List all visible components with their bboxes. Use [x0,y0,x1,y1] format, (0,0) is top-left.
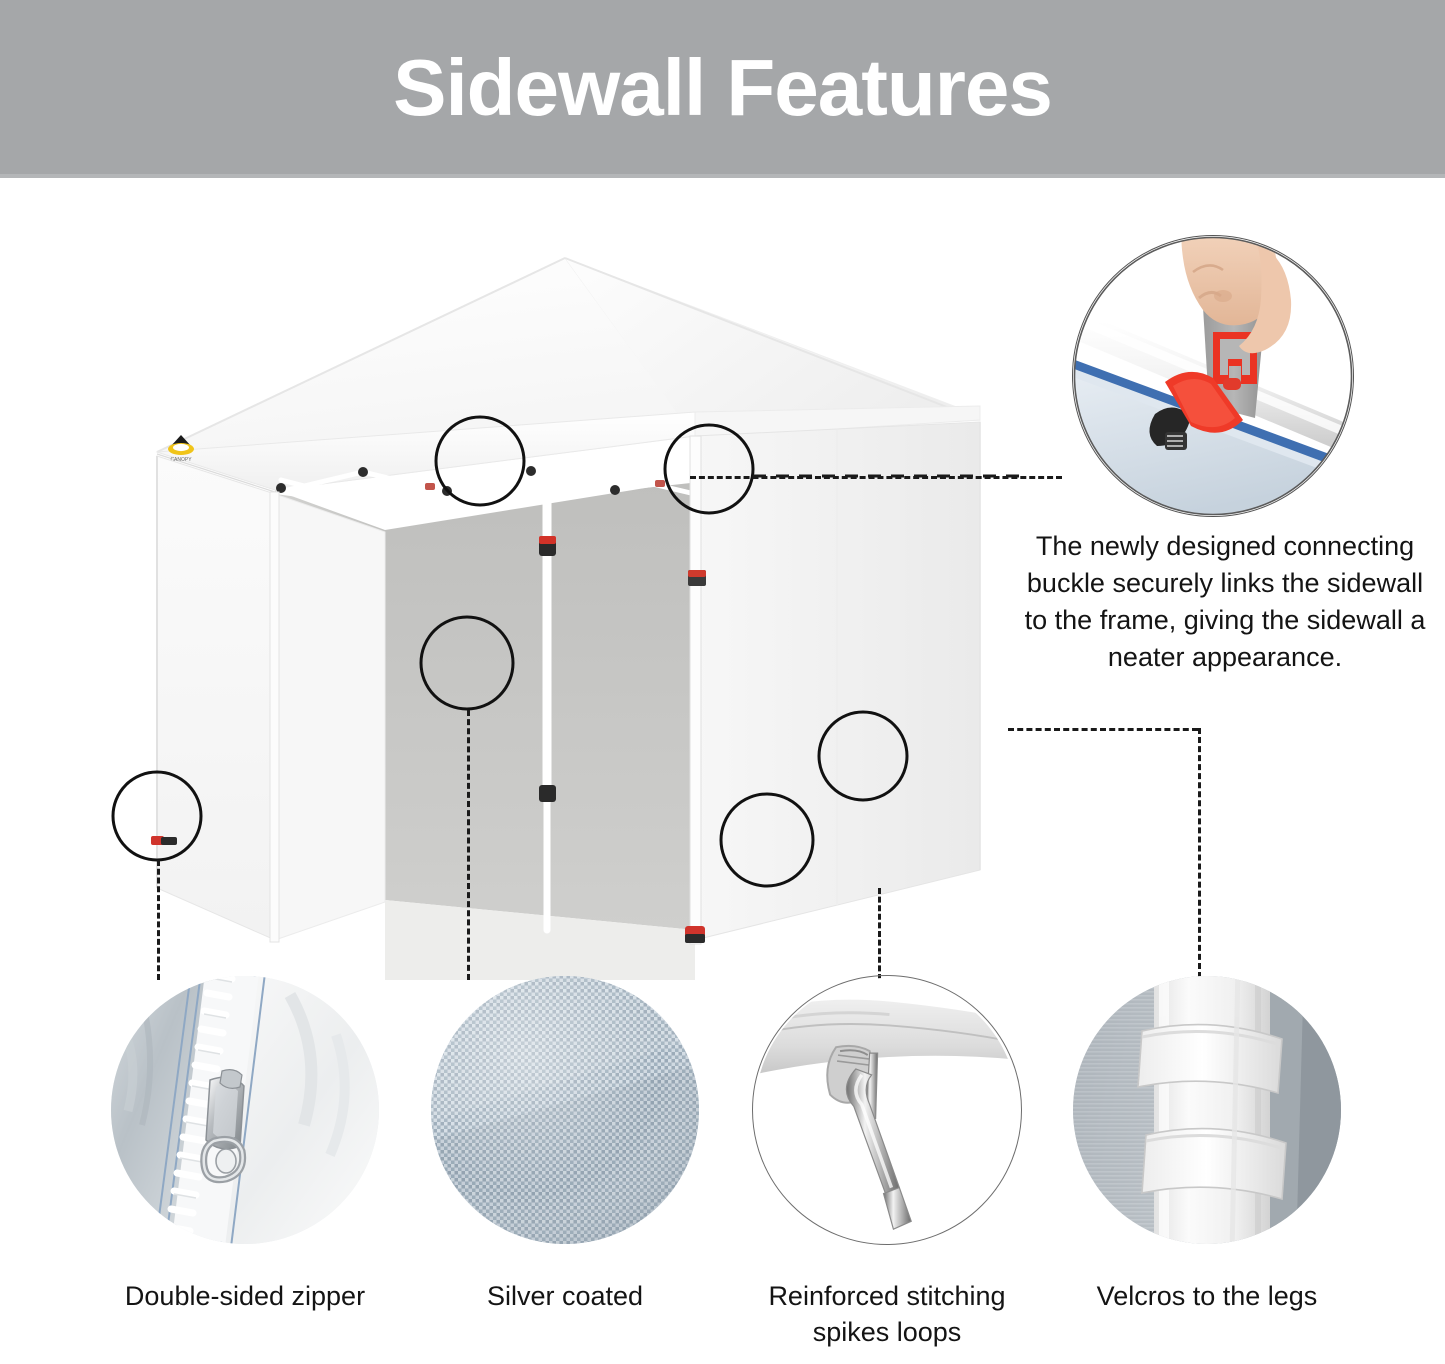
caption-silver-coated: Silver coated [400,1278,730,1314]
header-divider [0,174,1445,178]
caption-reinforced-stitching: Reinforced stitching spikes loops [722,1278,1052,1350]
tent-illustration: CANOPY [95,240,1025,980]
header-band: Sidewall Features [0,0,1445,178]
page-title: Sidewall Features [0,40,1445,136]
double-sided-zipper-photo [110,975,380,1245]
leader-velcro-vertical [1198,728,1201,978]
infographic-page: Sidewall Features [0,0,1445,1364]
caption-spike-line1: Reinforced stitching [722,1278,1052,1314]
caption-velcros-to-legs: Velcros to the legs [1042,1278,1372,1314]
buckle-caption: The newly designed connecting buckle sec… [1020,528,1430,676]
reinforced-stitching-spike-loop-photo [752,975,1022,1245]
sidewall-buckle-left [151,836,177,845]
silver-coated-fabric-photo [430,975,700,1245]
leader-silver-vertical [467,710,470,980]
caption-double-sided-zipper: Double-sided zipper [80,1278,410,1314]
sidewall-right-panel [695,422,980,940]
leader-spike-vertical [878,888,881,980]
leader-line-buckle [690,476,1062,479]
leader-velcro-horizontal [1008,728,1198,731]
leader-zipper-vertical [157,860,160,980]
connecting-buckle-photo [1072,235,1354,517]
velcro-leg-strap-photo [1072,975,1342,1245]
caption-spike-line2: spikes loops [722,1314,1052,1350]
